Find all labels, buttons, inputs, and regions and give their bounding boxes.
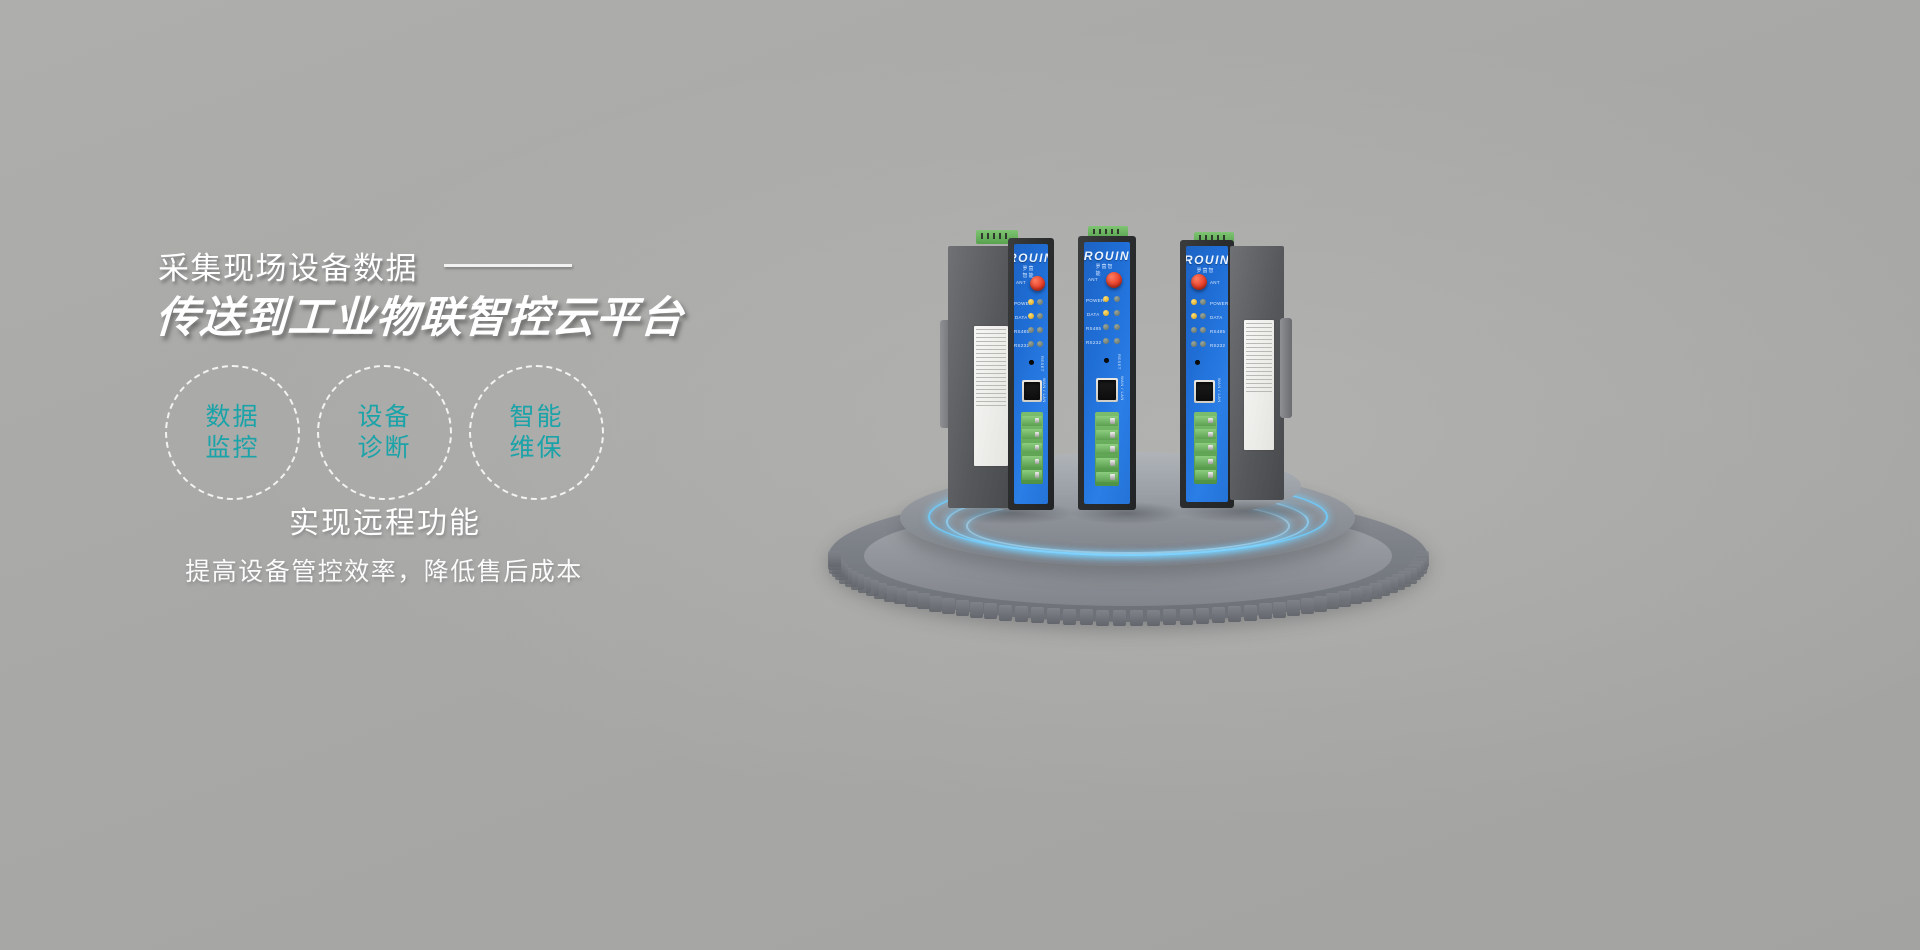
device-front-face: ROUIN 罗茵智能 ANT POWER DATA RS485 RS232 [1084, 242, 1130, 504]
gear-tooth [1031, 607, 1044, 623]
led-rs485 [1028, 327, 1034, 333]
reset-button[interactable] [1195, 360, 1200, 365]
label-ant: ANT [1088, 277, 1098, 282]
led-data-aux [1200, 313, 1206, 319]
led-power [1103, 296, 1109, 302]
device-group: ROUIN 罗茵智能 ANT POWER DATA RS485 RS232 [920, 218, 1380, 518]
label-data: DATA [1087, 312, 1100, 317]
gear-tooth [1349, 588, 1362, 604]
label-rs232: RS232 [1086, 340, 1101, 345]
label-wan-lan: WAN / LAN [1120, 376, 1125, 401]
brand-logo: ROUIN [1084, 249, 1130, 263]
eyebrow-text: 采集现场设备数据 [158, 243, 418, 288]
page-title: 传送到工业物联智控云平台 [154, 283, 685, 345]
ethernet-port[interactable] [1194, 380, 1215, 403]
gear-tooth [929, 596, 942, 612]
gear-tooth [984, 603, 997, 619]
device-front-face: ROUIN 罗茵智能 ANT POWER DATA RS485 RS232 [1186, 246, 1228, 502]
label-rs485: RS485 [1014, 329, 1029, 334]
label-rs232: RS232 [1014, 343, 1029, 348]
led-data-aux [1114, 310, 1120, 316]
feature-label-line1: 智能 [509, 402, 563, 433]
led-data-aux [1037, 313, 1043, 319]
feature-label-line2: 监控 [205, 433, 259, 464]
promo-banner: 采集现场设备数据 传送到工业物联智控云平台 数据 监控 设备 诊断 智能 维保 … [0, 0, 1920, 950]
brand-logo: ROUIN [1186, 253, 1228, 267]
sub-heading: 实现远程功能 [0, 498, 760, 542]
antenna-connector[interactable] [1030, 276, 1045, 291]
gear-tooth [999, 605, 1012, 621]
feature-circle-device-diagnostics[interactable]: 设备 诊断 [317, 365, 452, 500]
led-data [1191, 313, 1197, 319]
brand-logo: ROUIN [1014, 251, 1048, 265]
gear-tooth [1301, 598, 1314, 614]
gear-tooth [942, 598, 955, 614]
eyebrow-rule [444, 264, 572, 267]
terminal-block[interactable] [1095, 412, 1119, 486]
feature-circle-smart-maintenance[interactable]: 智能 维保 [469, 365, 604, 500]
gear-tooth [1196, 608, 1209, 624]
antenna-connector[interactable] [1191, 274, 1207, 290]
feature-label-line2: 诊断 [357, 433, 411, 464]
gear-tooth [1180, 609, 1193, 625]
led-rs485-aux [1200, 327, 1206, 333]
led-rs485 [1191, 327, 1197, 333]
din-rail-clip [1280, 318, 1292, 418]
gear-tooth [828, 551, 841, 567]
label-rs485: RS485 [1086, 326, 1101, 331]
gear-tooth [1047, 608, 1060, 624]
label-reset: RESET [1040, 356, 1045, 372]
feature-label-line1: 设备 [357, 402, 411, 433]
gear-tooth [1063, 609, 1076, 625]
label-rs485: RS485 [1210, 329, 1225, 334]
gear-tooth [1147, 610, 1160, 626]
led-data [1103, 310, 1109, 316]
label-power: POWER [1210, 301, 1228, 306]
gear-tooth [1080, 609, 1093, 625]
gear-tooth [1130, 610, 1143, 626]
led-rs485-aux [1114, 324, 1120, 330]
eyebrow-row: 采集现场设备数据 [158, 243, 572, 288]
gear-tooth [970, 602, 983, 618]
led-power [1028, 299, 1034, 305]
led-rs232-aux [1037, 341, 1043, 347]
ethernet-port[interactable] [1096, 378, 1118, 402]
gear-tooth [1015, 606, 1028, 622]
terminal-block[interactable] [1021, 412, 1043, 484]
device-side-panel [1230, 246, 1284, 500]
gear-tooth [1212, 607, 1225, 623]
label-power: POWER [1086, 298, 1105, 303]
device-side-panel [948, 246, 1014, 508]
product-scene: ROUIN 罗茵智能 ANT POWER DATA RS485 RS232 [760, 0, 1920, 950]
gear-tooth [1287, 600, 1300, 616]
gear-tooth [1244, 605, 1257, 621]
led-data [1028, 313, 1034, 319]
label-wan-lan: WAN / LAN [1042, 378, 1047, 403]
gear-tooth [917, 593, 930, 609]
led-power [1191, 299, 1197, 305]
label-ant: ANT [1016, 280, 1026, 285]
label-data: DATA [1210, 315, 1223, 320]
iot-gateway-device-right[interactable]: ROUIN 罗茵智能 ANT POWER DATA RS485 RS232 [1172, 232, 1332, 514]
gear-tooth [1338, 591, 1351, 607]
sub-text: 提高设备管控效率，降低售后成本 [0, 552, 760, 588]
feature-circle-data-monitoring[interactable]: 数据 监控 [165, 365, 300, 500]
gear-tooth [1259, 603, 1272, 619]
feature-label-line1: 数据 [205, 402, 259, 433]
label-data: DATA [1015, 315, 1028, 320]
led-rs232 [1028, 341, 1034, 347]
ethernet-port[interactable] [1022, 380, 1042, 402]
label-rs232: RS232 [1210, 343, 1225, 348]
iot-gateway-device-left[interactable]: ROUIN 罗茵智能 ANT POWER DATA RS485 RS232 [940, 230, 1080, 515]
led-rs232 [1191, 341, 1197, 347]
iot-gateway-device-center[interactable]: ROUIN 罗茵智能 ANT POWER DATA RS485 RS232 [1066, 226, 1186, 516]
gear-tooth [1273, 602, 1286, 618]
device-side-sticker [1244, 320, 1274, 450]
led-power-aux [1037, 299, 1043, 305]
terminal-block[interactable] [1194, 412, 1217, 484]
antenna-connector[interactable] [1106, 272, 1122, 288]
led-power-aux [1200, 299, 1206, 305]
device-front-face: ROUIN 罗茵智能 ANT POWER DATA RS485 RS232 [1014, 244, 1048, 504]
label-wan-lan: WAN / LAN [1217, 378, 1222, 403]
gear-tooth [1314, 596, 1327, 612]
label-ant: ANT [1210, 280, 1220, 285]
marketing-copy-column: 采集现场设备数据 传送到工业物联智控云平台 数据 监控 设备 诊断 智能 维保 … [0, 0, 760, 950]
label-reset: RESET [1117, 354, 1122, 370]
gear-tooth [1096, 610, 1109, 626]
feature-circle-list: 数据 监控 设备 诊断 智能 维保 [165, 365, 604, 500]
gear-tooth [1113, 610, 1126, 626]
led-power-aux [1114, 296, 1120, 302]
led-rs232-aux [1200, 341, 1206, 347]
gear-tooth [1326, 593, 1339, 609]
led-rs232 [1103, 338, 1109, 344]
gear-tooth [1228, 606, 1241, 622]
feature-label-line2: 维保 [509, 433, 563, 464]
led-rs232-aux [1114, 338, 1120, 344]
reset-button[interactable] [1104, 358, 1109, 363]
gear-tooth [1163, 609, 1176, 625]
led-rs485 [1103, 324, 1109, 330]
gear-tooth [956, 600, 969, 616]
device-side-sticker [974, 326, 1008, 466]
reset-button[interactable] [1029, 360, 1034, 365]
led-rs485-aux [1037, 327, 1043, 333]
